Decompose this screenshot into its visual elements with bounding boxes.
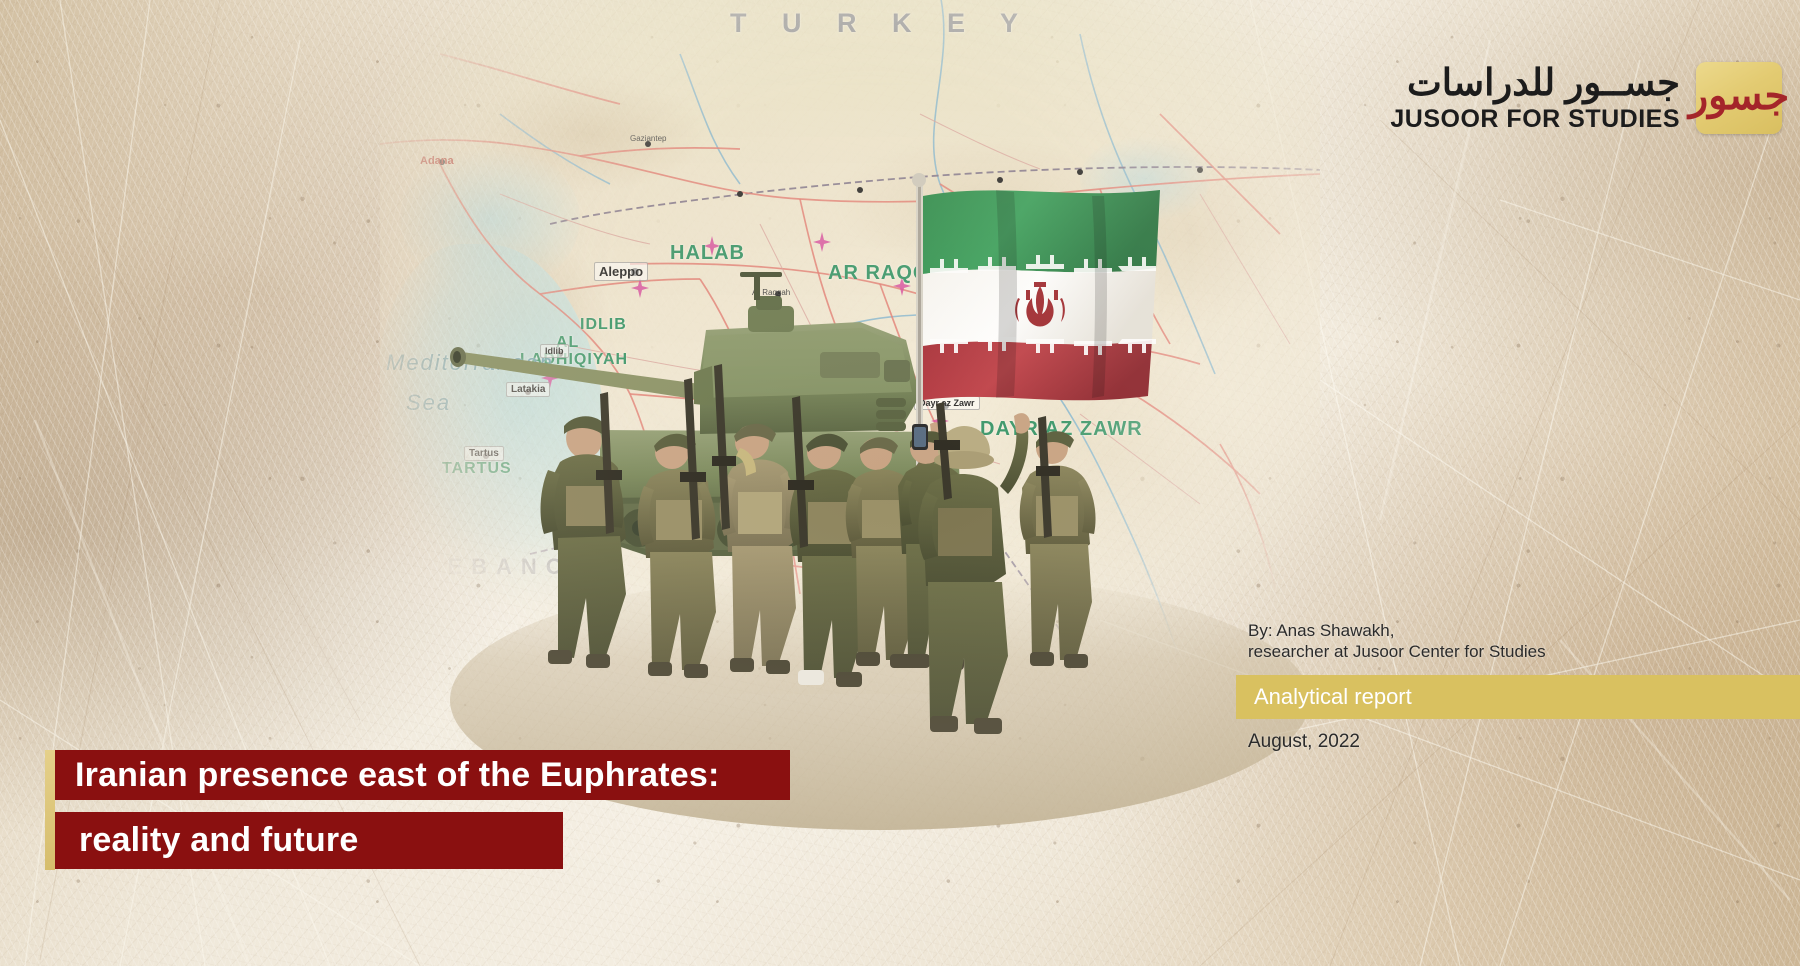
title-accent-bar [45,750,55,870]
report-title-block: Iranian presence east of the Euphrates: … [45,750,790,869]
brand-logo-mark: جسور [1696,62,1782,134]
report-title-line-2: reality and future [55,812,563,869]
brand-name-english: JUSOOR FOR STUDIES [1390,107,1680,132]
brand-name-arabic: جســور للدراسات [1407,64,1680,101]
author-line-2: researcher at Jusoor Center for Studies [1220,641,1800,662]
syria-region-map: T U R K E Y LEBANON HALAB AR RAQQAH IDLI… [380,0,1320,694]
author-line-1: By: Anas Shawakh, [1220,620,1800,641]
report-type-badge: Analytical report [1236,675,1800,719]
brand-logo-text: جســور للدراسات JUSOOR FOR STUDIES [1390,64,1680,132]
brand-mark-glyph: جسور [1689,73,1789,119]
report-date: August, 2022 [1248,731,1800,753]
report-title-line-1: Iranian presence east of the Euphrates: [55,750,790,800]
report-meta-block: By: Anas Shawakh, researcher at Jusoor C… [1220,620,1800,753]
report-cover: T U R K E Y LEBANON HALAB AR RAQQAH IDLI… [0,0,1800,966]
map-road-network [380,0,1320,694]
brand-logo[interactable]: جســور للدراسات JUSOOR FOR STUDIES جسور [1390,62,1782,134]
